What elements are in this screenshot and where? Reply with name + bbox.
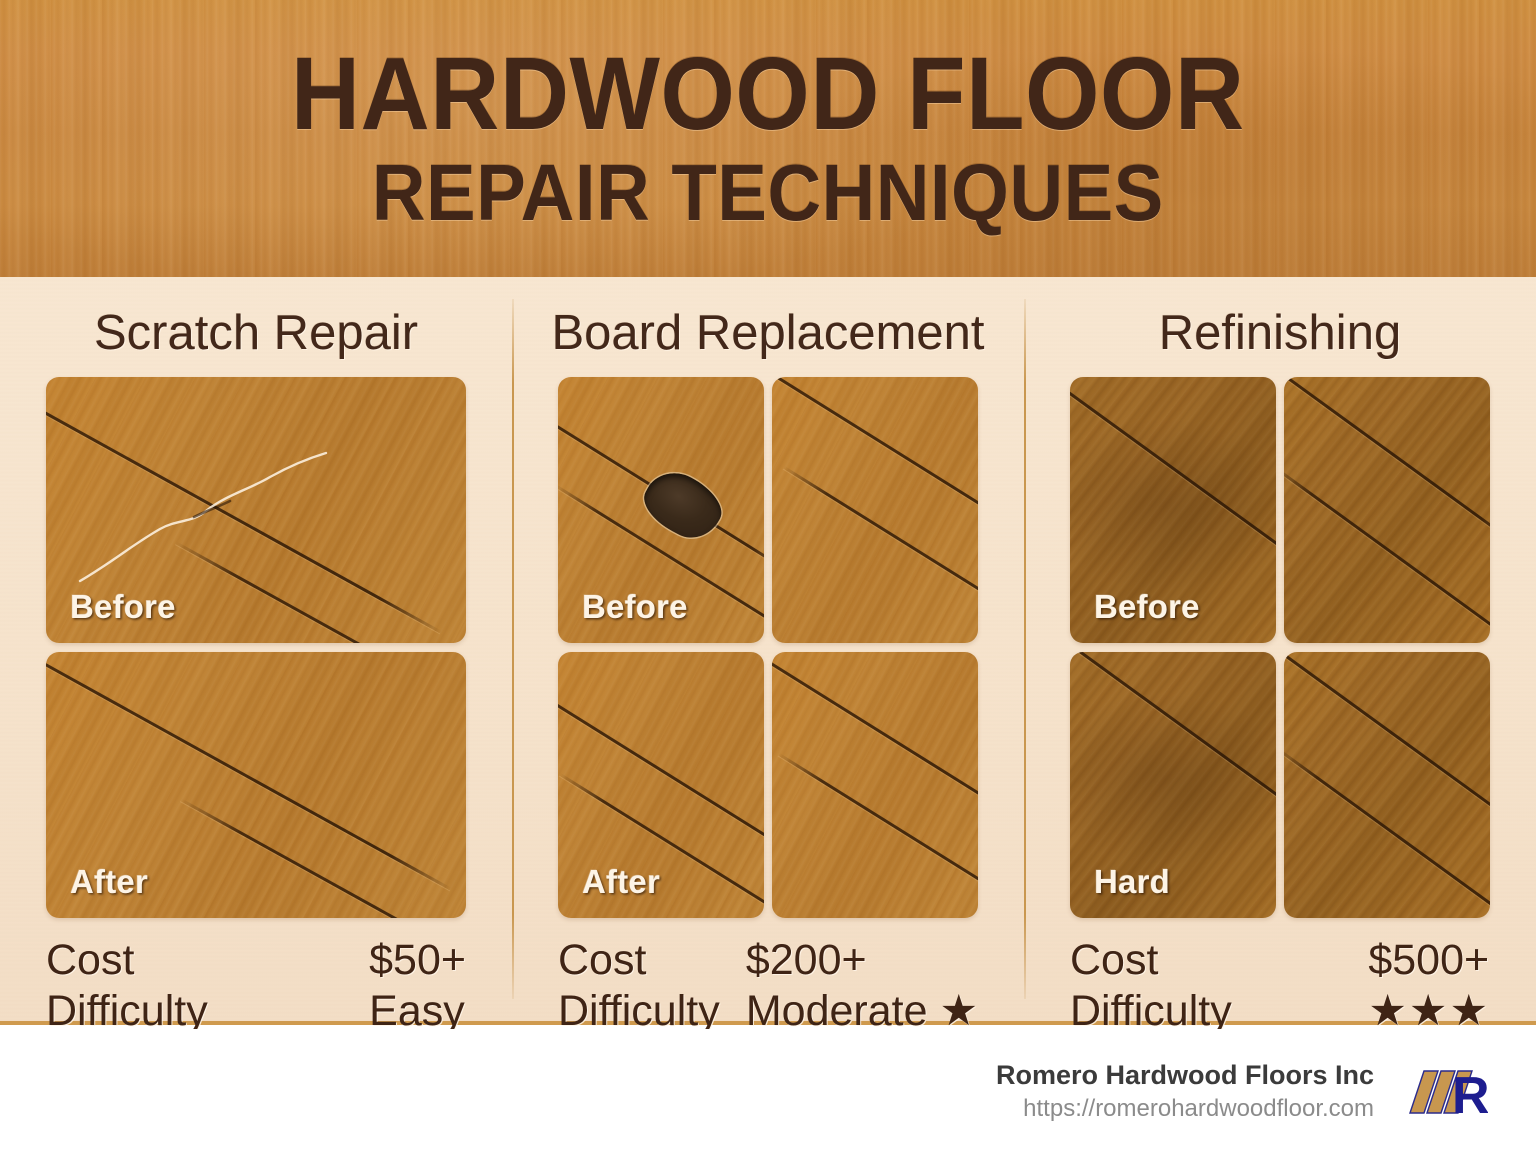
technique-column-refinishing: Refinishing Before bbox=[1024, 277, 1536, 1021]
plank-seam bbox=[783, 466, 978, 643]
gouge-damage bbox=[635, 462, 730, 548]
technique-columns: Scratch Repair Before bbox=[0, 277, 1536, 1021]
stat-values: $500+ ★★★ bbox=[1368, 936, 1490, 1035]
poster-footer: Romero Hardwood Floors Inc https://romer… bbox=[0, 1029, 1536, 1154]
plank-seam bbox=[558, 484, 764, 643]
stat-labels: Cost Difficulty bbox=[1070, 936, 1232, 1035]
column-title-refinishing: Refinishing bbox=[1024, 305, 1536, 361]
photo-panel-before-refinish-right[interactable] bbox=[1284, 377, 1490, 643]
plank-seam bbox=[772, 377, 978, 549]
column-title-board-replacement: Board Replacement bbox=[512, 305, 1024, 361]
photo-panel-before-board-left[interactable]: Before bbox=[558, 377, 764, 643]
panel-label-before: Before bbox=[1094, 588, 1200, 626]
photo-panel-after-board-left[interactable]: After bbox=[558, 652, 764, 918]
stats-scratch-repair: Cost Difficulty $50+ Easy bbox=[0, 918, 512, 1035]
plank-seam bbox=[46, 652, 452, 891]
company-name: Romero Hardwood Floors Inc bbox=[996, 1058, 1374, 1093]
company-logo[interactable]: R bbox=[1396, 1063, 1488, 1121]
panel-row-before: Before bbox=[558, 377, 978, 643]
plank-seam bbox=[1284, 746, 1490, 918]
plank-seam bbox=[1070, 652, 1276, 841]
plank-seam bbox=[1284, 463, 1490, 643]
stat-values: $50+ Easy bbox=[369, 936, 466, 1035]
infographic-poster: HARDWOOD FLOOR REPAIR TECHNIQUES Scratch… bbox=[0, 0, 1536, 1154]
poster-body: Scratch Repair Before bbox=[0, 277, 1536, 1025]
panel-label-before: Before bbox=[70, 588, 176, 626]
plank-seam bbox=[558, 377, 764, 577]
photo-panel-before-board-right[interactable] bbox=[772, 377, 978, 643]
stats-board-replacement: Cost Difficulty $200+ Moderate ★ bbox=[512, 918, 1024, 1035]
stat-label-cost: Cost bbox=[1070, 936, 1232, 985]
panel-stack-board-replacement: Before After bbox=[512, 377, 1024, 918]
poster-title-line1: HARDWOOD FLOOR bbox=[291, 44, 1245, 145]
photo-panel-before-scratch[interactable]: Before bbox=[46, 377, 466, 643]
plank-seam bbox=[1070, 377, 1276, 590]
plank-seam bbox=[175, 541, 466, 643]
plank-seam bbox=[1284, 377, 1490, 550]
plank-seam bbox=[1284, 652, 1490, 833]
panel-row-before: Before bbox=[46, 377, 466, 643]
plank-seam bbox=[772, 652, 978, 836]
technique-column-scratch-repair: Scratch Repair Before bbox=[0, 277, 512, 1021]
stat-labels: Cost Difficulty bbox=[46, 936, 208, 1035]
stat-label-difficulty: Difficulty bbox=[1070, 987, 1232, 1036]
plank-seam bbox=[46, 377, 442, 634]
panel-label-before: Before bbox=[582, 588, 688, 626]
panel-label-after: After bbox=[70, 863, 148, 901]
scratch-mark bbox=[74, 449, 374, 589]
technique-column-board-replacement: Board Replacement Before bbox=[512, 277, 1024, 1021]
stat-values: $200+ Moderate ★ bbox=[746, 936, 978, 1035]
panel-row-after: After bbox=[558, 652, 978, 918]
panel-label-hard: Hard bbox=[1094, 863, 1170, 901]
svg-text:R: R bbox=[1452, 1067, 1488, 1121]
panel-row-after: Hard bbox=[1070, 652, 1490, 918]
stat-labels: Cost Difficulty bbox=[558, 936, 720, 1035]
romero-r-logo-icon: R bbox=[1396, 1063, 1488, 1121]
stat-label-difficulty: Difficulty bbox=[46, 987, 208, 1036]
plank-seam bbox=[180, 798, 466, 918]
panel-label-after: After bbox=[582, 863, 660, 901]
plank-seam bbox=[559, 773, 764, 918]
photo-panel-after-refinish-right[interactable] bbox=[1284, 652, 1490, 918]
stat-value-cost: $500+ bbox=[1368, 936, 1489, 985]
panel-stack-scratch-repair: Before After bbox=[0, 377, 512, 918]
poster-header: HARDWOOD FLOOR REPAIR TECHNIQUES bbox=[0, 0, 1536, 277]
footer-text-block: Romero Hardwood Floors Inc https://romer… bbox=[996, 1058, 1374, 1125]
stat-value-difficulty: Easy bbox=[369, 987, 465, 1036]
stat-value-cost: $50+ bbox=[369, 936, 466, 985]
poster-title-line2: REPAIR TECHNIQUES bbox=[372, 153, 1164, 233]
company-url[interactable]: https://romerohardwoodfloor.com bbox=[996, 1093, 1374, 1125]
photo-panel-after-refinish-left[interactable]: Hard bbox=[1070, 652, 1276, 918]
stat-value-cost: $200+ bbox=[746, 936, 867, 985]
photo-panel-after-board-right[interactable] bbox=[772, 652, 978, 918]
stat-label-cost: Cost bbox=[46, 936, 208, 985]
photo-panel-before-refinish-left[interactable]: Before bbox=[1070, 377, 1276, 643]
photo-panel-after-scratch[interactable]: After bbox=[46, 652, 466, 918]
stat-label-difficulty: Difficulty bbox=[558, 987, 720, 1036]
plank-seam bbox=[558, 652, 764, 862]
panel-stack-refinishing: Before Hard bbox=[1024, 377, 1536, 918]
panel-row-before: Before bbox=[1070, 377, 1490, 643]
stat-value-difficulty: ★★★ bbox=[1368, 987, 1490, 1036]
stat-label-cost: Cost bbox=[558, 936, 720, 985]
plank-seam bbox=[778, 753, 978, 918]
panel-row-after: After bbox=[46, 652, 466, 918]
column-title-scratch-repair: Scratch Repair bbox=[0, 305, 512, 361]
stats-refinishing: Cost Difficulty $500+ ★★★ bbox=[1024, 918, 1536, 1035]
stat-value-difficulty: Moderate ★ bbox=[746, 987, 978, 1036]
